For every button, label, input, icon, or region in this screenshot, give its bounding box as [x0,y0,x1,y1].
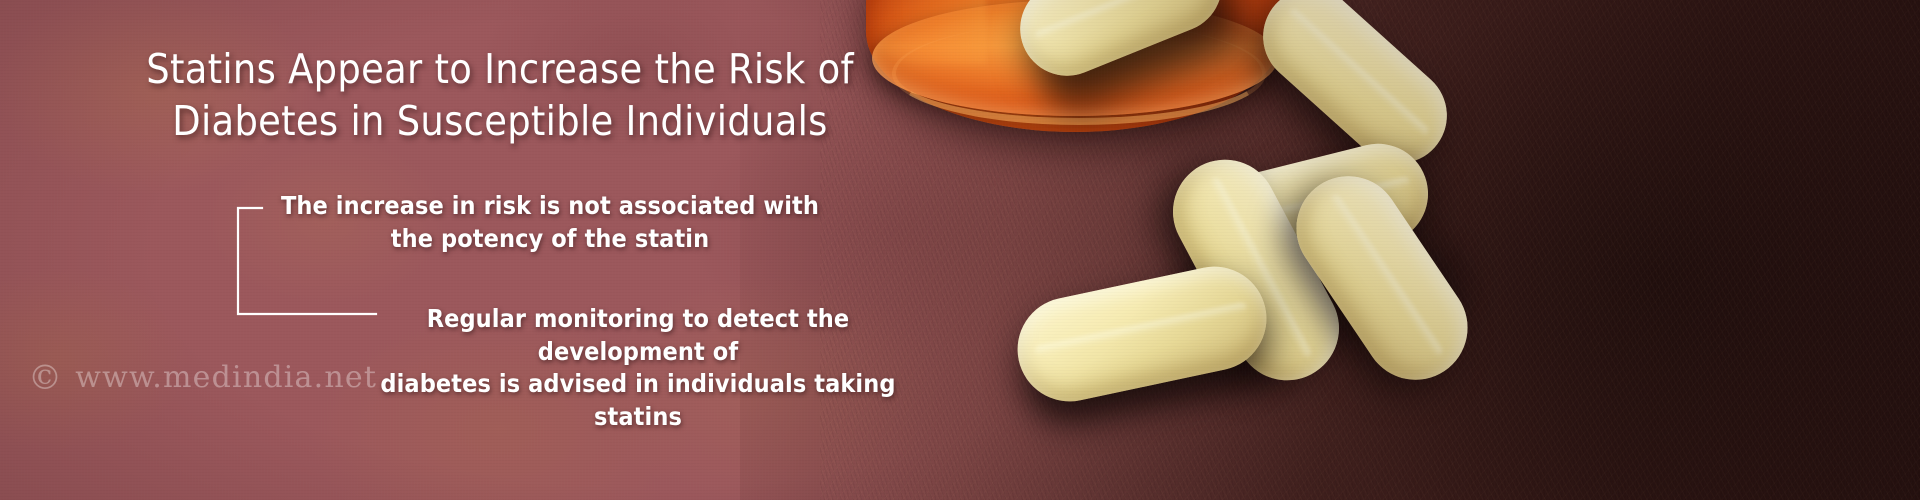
banner-headline: Statins Appear to Increase the Risk of D… [120,44,880,147]
headline-line-1: Statins Appear to Increase the Risk of [120,44,880,96]
copyright-icon: © [28,358,63,398]
health-info-banner: Statins Appear to Increase the Risk of D… [0,0,1920,500]
key-point-line: diabetes is advised in individuals takin… [340,368,936,433]
headline-line-2: Diabetes in Susceptible Individuals [120,96,880,148]
watermark: ©www.medindia.net [28,358,377,398]
watermark-url: www.medindia.net [75,360,377,395]
key-point-line: the potency of the statin [250,223,850,256]
key-point-line: The increase in risk is not associated w… [250,190,850,223]
key-point-item: The increase in risk is not associated w… [250,190,850,255]
key-point-line: Regular monitoring to detect the develop… [340,303,936,368]
key-point-item: Regular monitoring to detect the develop… [340,303,936,433]
